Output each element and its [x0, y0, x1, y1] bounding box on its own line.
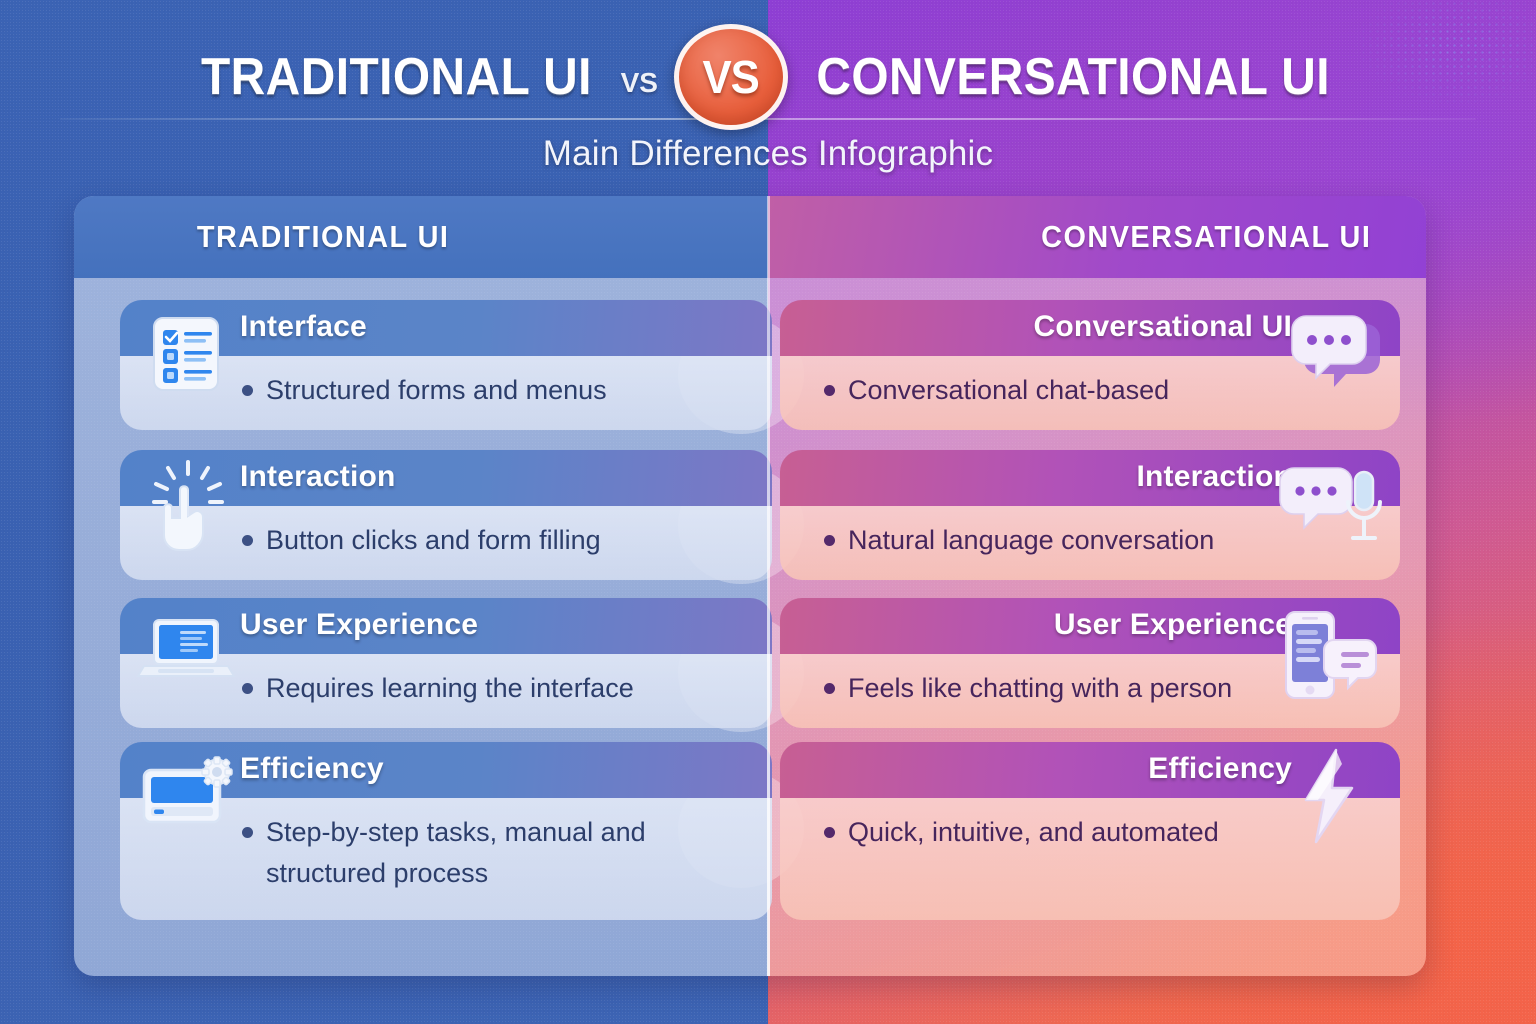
bullet-dot [242, 683, 253, 694]
infographic-canvas: TRADITIONAL UI VS VS CONVERSATIONAL UI M… [0, 0, 1536, 1024]
column-header-conversational: CONVERSATIONAL UI [768, 196, 1426, 278]
card-traditional-interface[interactable]: Interface Structured forms and menus [120, 300, 772, 430]
card-conversational-interaction[interactable]: Interaction Natural language conversatio… [780, 450, 1400, 580]
bullet-text: Quick, intuitive, and automated [848, 812, 1219, 853]
bullet-text: Step-by-step tasks, manual and structure… [266, 812, 736, 894]
card-bullet: Button clicks and form filling [242, 520, 736, 561]
card-traditional-user-experience[interactable]: User Experience Requires learning the in… [120, 598, 772, 728]
card-title: Interface [240, 310, 367, 344]
form-list-icon [144, 306, 228, 407]
header: TRADITIONAL UI VS VS CONVERSATIONAL UI M… [0, 0, 1536, 190]
title-row: TRADITIONAL UI VS VS CONVERSATIONAL UI [0, 34, 1536, 120]
card-traditional-efficiency[interactable]: Efficiency Step-by-step tasks, manual an… [120, 742, 772, 920]
card-title: Interaction [1136, 460, 1292, 494]
chat-microphone-icon [1276, 456, 1384, 561]
card-bullet: Quick, intuitive, and automated [824, 812, 1280, 853]
window-gear-icon [136, 748, 236, 845]
chat-bubble-icon [1284, 306, 1384, 407]
subtitle: Main Differences Infographic [0, 134, 1536, 174]
bullet-text: Natural language conversation [848, 520, 1214, 561]
card-traditional-interaction[interactable]: Interaction Button clicks and form filli… [120, 450, 772, 580]
title-right: CONVERSATIONAL UI [816, 47, 1330, 107]
card-bullet: Feels like chatting with a person [824, 668, 1280, 709]
bullet-dot [242, 385, 253, 396]
card-bullet: Structured forms and menus [242, 370, 736, 411]
header-divider-rule [60, 118, 1476, 120]
card-title: User Experience [1054, 608, 1292, 642]
bullet-text: Conversational chat-based [848, 370, 1169, 411]
card-title: Efficiency [1148, 752, 1292, 786]
vs-badge-icon: VS [674, 24, 788, 130]
card-bullet: Step-by-step tasks, manual and structure… [242, 812, 736, 894]
vs-label-small: VS [621, 67, 658, 99]
bullet-dot [824, 683, 835, 694]
bullet-dot [824, 535, 835, 546]
card-title: Interaction [240, 460, 396, 494]
cursor-tap-icon [144, 456, 232, 565]
card-bullet: Natural language conversation [824, 520, 1280, 561]
card-conversational-efficiency[interactable]: Efficiency Quick, intuitive, and automat… [780, 742, 1400, 920]
card-bullet: Conversational chat-based [824, 370, 1280, 411]
card-title: User Experience [240, 608, 478, 642]
comparison-rows: Interface Structured forms and menus [74, 278, 1426, 976]
lightning-bolt-icon [1288, 744, 1370, 853]
card-conversational-interface[interactable]: Conversational UI Conversational chat-ba… [780, 300, 1400, 430]
bullet-text: Button clicks and form filling [266, 520, 601, 561]
card-title: Efficiency [240, 752, 384, 786]
bullet-dot [242, 535, 253, 546]
title-left: TRADITIONAL UI [201, 47, 592, 107]
bullet-text: Requires learning the interface [266, 668, 634, 709]
laptop-icon [136, 604, 236, 701]
column-header-conversational-label: CONVERSATIONAL UI [791, 196, 1403, 278]
vs-badge-label: VS [703, 50, 759, 104]
table-row: User Experience Requires learning the in… [74, 598, 1426, 748]
bullet-text: Structured forms and menus [266, 370, 607, 411]
card-title: Conversational UI [1034, 310, 1292, 344]
card-conversational-user-experience[interactable]: User Experience Feels like chatting with… [780, 598, 1400, 728]
column-header-traditional-label: TRADITIONAL UI [98, 196, 743, 278]
card-bullet: Requires learning the interface [242, 668, 736, 709]
table-row: Interface Structured forms and menus [74, 300, 1426, 450]
center-divider [767, 196, 770, 976]
phone-chat-icon [1276, 604, 1380, 713]
table-row: Interaction Button clicks and form filli… [74, 450, 1426, 600]
table-row: Efficiency Step-by-step tasks, manual an… [74, 742, 1426, 892]
column-header-traditional: TRADITIONAL UI [74, 196, 768, 278]
bullet-dot [242, 827, 253, 838]
bullet-dot [824, 827, 835, 838]
bullet-text: Feels like chatting with a person [848, 668, 1232, 709]
bullet-dot [824, 385, 835, 396]
